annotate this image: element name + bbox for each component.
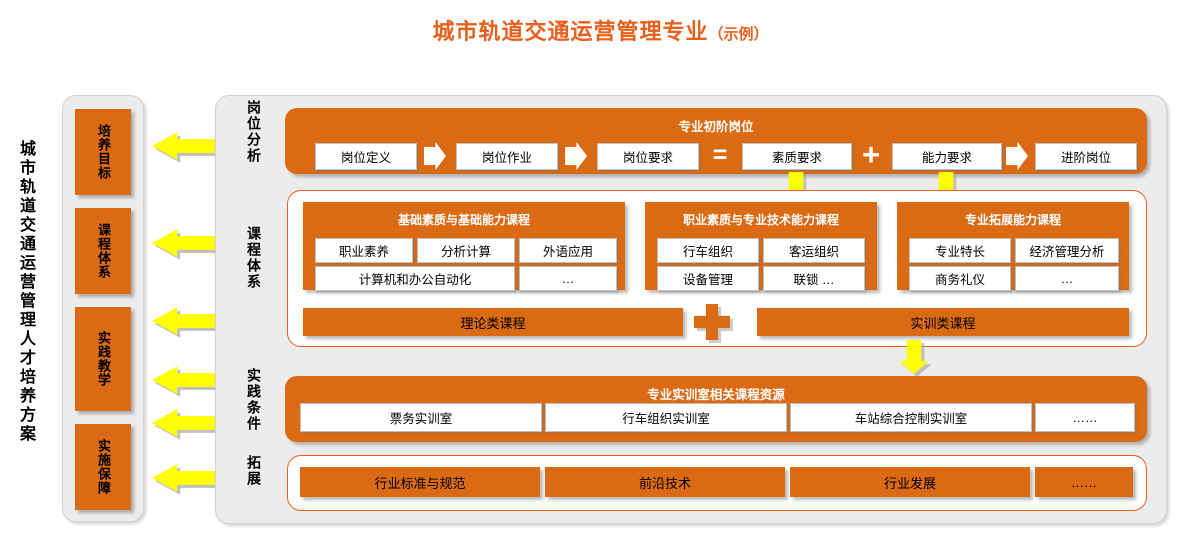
plus-operator: + (855, 141, 887, 168)
course-1-0[interactable]: 行车组织 (657, 238, 759, 263)
practice-conditions-title: 专业实训室相关课程资源 (285, 384, 1147, 403)
course-0-3-label: 计算机和办公自动化 (359, 269, 472, 288)
course-0-1[interactable]: 分析计算 (417, 238, 515, 263)
equals-operator: = (703, 143, 737, 168)
diagram-canvas: 城市轨道交通运营管理专业（示例） 城市轨道交通运营管理人才培养方案 培养目标 课… (0, 0, 1201, 544)
lab-1[interactable]: 行车组织实训室 (545, 403, 787, 432)
job-step-5-label: 进阶岗位 (1061, 147, 1111, 166)
course-0-2[interactable]: 外语应用 (519, 238, 617, 263)
left-item-3[interactable]: 实施保障 (75, 424, 131, 510)
course-2-3[interactable]: … (1015, 266, 1119, 291)
job-step-1-label: 岗位作业 (482, 147, 532, 166)
course-0-0-label: 职业素养 (339, 241, 389, 260)
practice-courses-box[interactable]: 实训类课程 (757, 308, 1129, 336)
page-title: 城市轨道交通运营管理专业（示例） (0, 14, 1201, 46)
job-step-2-label: 岗位要求 (623, 147, 673, 166)
lab-1-label: 行车组织实训室 (622, 408, 710, 427)
extension-item-0-label: 行业标准与规范 (374, 473, 465, 492)
job-step-1[interactable]: 岗位作业 (456, 143, 558, 170)
lab-3-label: …… (1073, 411, 1098, 425)
course-0-3[interactable]: 计算机和办公自动化 (315, 266, 515, 291)
job-step-0-label: 岗位定义 (341, 147, 391, 166)
course-2-2[interactable]: 商务礼仪 (909, 266, 1011, 291)
course-0-1-label: 分析计算 (441, 241, 491, 260)
left-item-3-label: 实施保障 (95, 439, 111, 495)
course-1-3[interactable]: 联锁 … (763, 266, 865, 291)
course-2-1-label: 经济管理分析 (1029, 241, 1104, 260)
job-step-4-label: 能力要求 (922, 147, 972, 166)
course-1-1-label: 客运组织 (789, 241, 839, 260)
job-step-3-label: 素质要求 (772, 147, 822, 166)
course-1-1[interactable]: 客运组织 (763, 238, 865, 263)
course-0-0[interactable]: 职业素养 (315, 238, 413, 263)
down-arrow-icon-2 (898, 340, 930, 374)
job-step-3[interactable]: 素质要求 (742, 143, 852, 170)
job-analysis-title: 专业初阶岗位 (285, 116, 1147, 135)
course-group-1-title: 职业素质与专业技术能力课程 (645, 211, 877, 228)
extension-item-3[interactable]: …… (1035, 467, 1133, 497)
course-group-0-title: 基础素质与基础能力课程 (303, 211, 625, 228)
left-arrow-icon-4 (152, 408, 222, 438)
course-2-3-label: … (1061, 272, 1074, 286)
course-2-1[interactable]: 经济管理分析 (1015, 238, 1119, 263)
lab-2-label: 车站综合控制实训室 (855, 408, 968, 427)
left-item-1[interactable]: 课程体系 (75, 208, 131, 294)
job-step-2[interactable]: 岗位要求 (597, 143, 699, 170)
left-caption: 城市轨道交通运营管理人才培养方案 (12, 140, 38, 444)
left-item-0[interactable]: 培养目标 (75, 109, 131, 195)
left-arrow-icon-3 (152, 365, 222, 395)
course-0-4-label: … (562, 272, 575, 286)
extension-item-0[interactable]: 行业标准与规范 (300, 467, 540, 497)
extension-item-1[interactable]: 前沿技术 (545, 467, 785, 497)
extension-item-1-label: 前沿技术 (639, 473, 691, 492)
left-item-2[interactable]: 实践教学 (75, 307, 131, 411)
lab-0-label: 票务实训室 (390, 408, 453, 427)
page-title-suffix: （示例） (709, 26, 769, 43)
job-step-0[interactable]: 岗位定义 (315, 143, 417, 170)
course-1-3-label: 联锁 … (794, 269, 835, 288)
left-item-1-label: 课程体系 (95, 223, 111, 279)
left-item-0-label: 培养目标 (95, 124, 111, 180)
course-2-2-label: 商务礼仪 (935, 269, 985, 288)
page-title-main: 城市轨道交通运营管理专业 (432, 19, 708, 44)
left-panel: 培养目标 课程体系 实践教学 实施保障 (62, 95, 144, 522)
lab-3[interactable]: …… (1035, 403, 1135, 432)
course-0-2-label: 外语应用 (543, 241, 593, 260)
course-2-0-label: 专业特长 (935, 241, 985, 260)
course-0-4[interactable]: … (519, 266, 617, 291)
extension-item-2-label: 行业发展 (884, 473, 936, 492)
left-arrow-icon-1 (152, 228, 222, 258)
left-arrow-icon-2 (152, 306, 222, 336)
course-group-2-title: 专业拓展能力课程 (897, 211, 1129, 228)
course-1-2[interactable]: 设备管理 (657, 266, 759, 291)
extension-item-3-label: …… (1071, 475, 1097, 490)
job-step-4[interactable]: 能力要求 (892, 143, 1002, 170)
course-2-0[interactable]: 专业特长 (909, 238, 1011, 263)
theory-courses-label: 理论类课程 (460, 313, 525, 332)
left-arrow-icon-0 (152, 131, 222, 161)
extension-item-2[interactable]: 行业发展 (790, 467, 1030, 497)
course-1-0-label: 行车组织 (683, 241, 733, 260)
practice-courses-label: 实训类课程 (910, 313, 975, 332)
lab-0[interactable]: 票务实训室 (300, 403, 542, 432)
stage-label-0: 岗位分析 (240, 100, 264, 164)
stage-label-2: 实践条件 (240, 368, 264, 432)
left-arrow-icon-5 (152, 463, 222, 493)
lab-2[interactable]: 车站综合控制实训室 (790, 403, 1032, 432)
course-1-2-label: 设备管理 (683, 269, 733, 288)
left-item-2-label: 实践教学 (95, 331, 111, 387)
stage-label-1: 课程体系 (240, 226, 264, 290)
theory-courses-box[interactable]: 理论类课程 (303, 308, 683, 336)
job-step-5[interactable]: 进阶岗位 (1035, 143, 1137, 170)
plus-icon (694, 304, 730, 340)
stage-label-3: 拓展 (240, 455, 264, 487)
